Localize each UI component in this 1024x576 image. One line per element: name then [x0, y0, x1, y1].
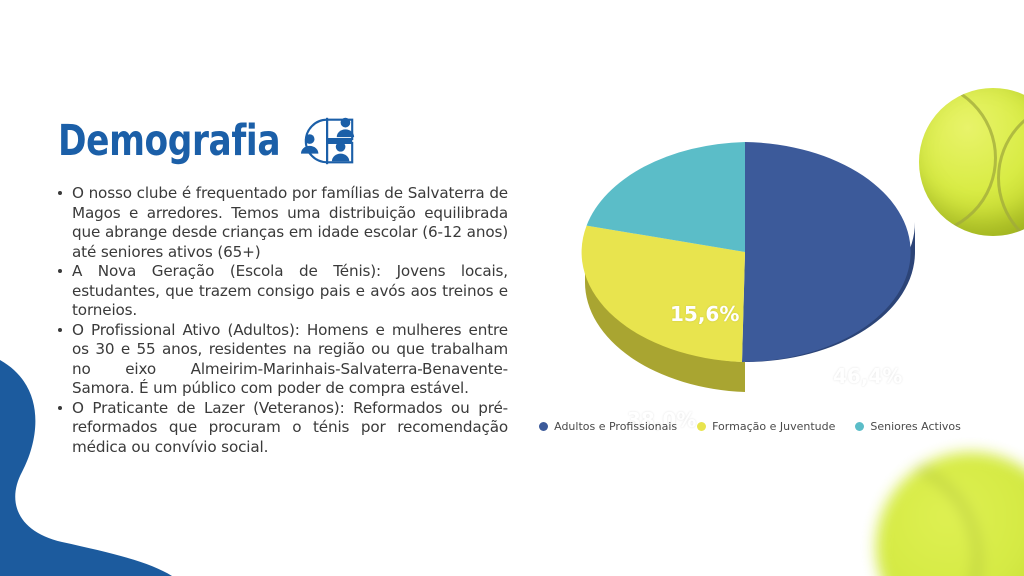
tennis-ball-image-bottom-right — [876, 452, 1024, 576]
list-item: A Nova Geração (Escola de Ténis): Jovens… — [56, 262, 508, 321]
page-title-text: Demografia — [58, 120, 280, 163]
list-item: O Profissional Ativo (Adultos): Homens e… — [56, 321, 508, 399]
legend-item-formacao[interactable]: Formação e Juventude — [697, 420, 835, 433]
legend-label: Adultos e Profissionais — [554, 420, 677, 433]
bullet-list: O nosso clube é frequentado por famílias… — [56, 184, 508, 457]
legend-label: Seniores Activos — [870, 420, 961, 433]
pie-chart-graphic — [575, 132, 915, 400]
demographics-pie-people-icon — [298, 112, 360, 170]
pie-slice-adultos — [742, 142, 911, 362]
legend-color-swatch-icon — [539, 422, 548, 431]
pie-value-label-seniores: 15,6% — [670, 302, 739, 326]
pie-chart: 46,4% 38,0% 15,6% Adultos e Profissionai… — [520, 132, 980, 452]
legend-item-seniores[interactable]: Seniores Activos — [855, 420, 961, 433]
list-item: O Praticante de Lazer (Veteranos): Refor… — [56, 399, 508, 458]
page-title: Demografia — [58, 112, 508, 170]
legend-color-swatch-icon — [697, 422, 706, 431]
chart-legend: Adultos e Profissionais Formação e Juven… — [520, 420, 980, 433]
legend-color-swatch-icon — [855, 422, 864, 431]
slide-canvas: Demografia O — [0, 0, 1024, 576]
legend-item-adultos[interactable]: Adultos e Profissionais — [539, 420, 677, 433]
content-column: Demografia O — [56, 112, 508, 457]
list-item: O nosso clube é frequentado por famílias… — [56, 184, 508, 262]
legend-label: Formação e Juventude — [712, 420, 835, 433]
tennis-ball-seam — [876, 452, 1024, 576]
pie-value-label-adultos: 46,4% — [833, 364, 902, 388]
